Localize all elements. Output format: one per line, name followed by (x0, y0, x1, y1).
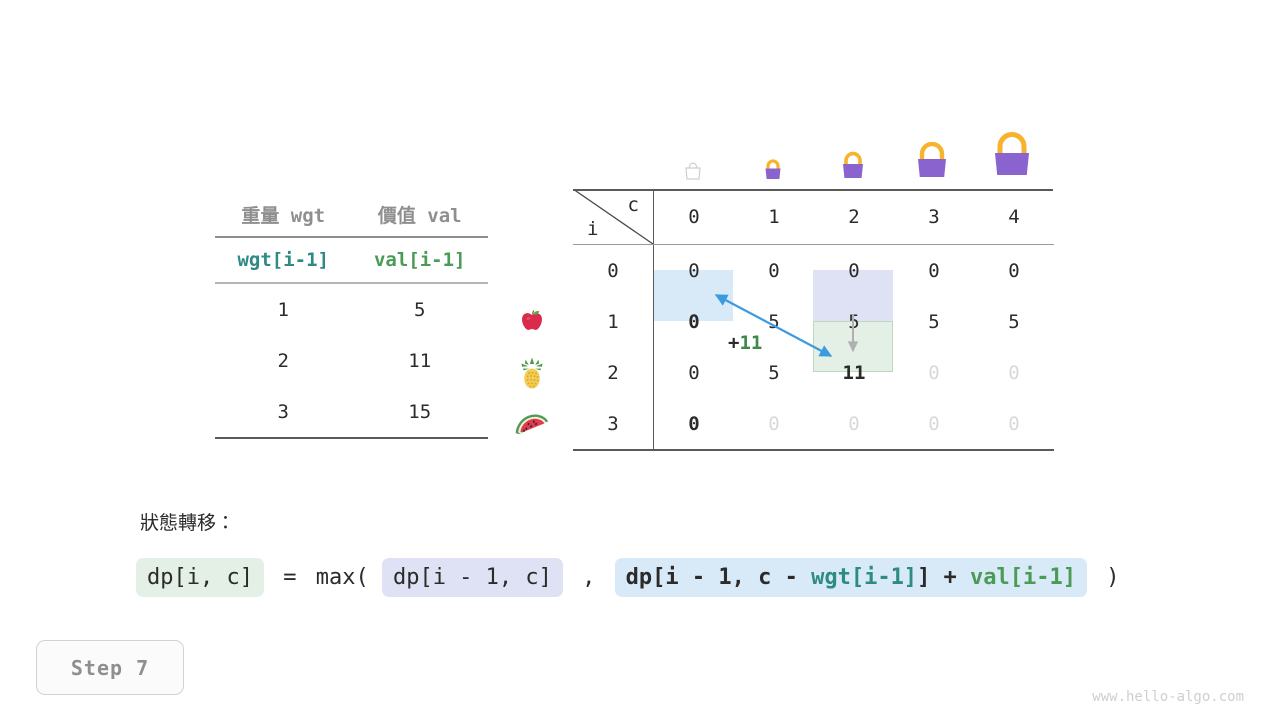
dp-col-header-2: 2 (814, 189, 894, 245)
dp-row-header-1: 1 (573, 296, 654, 347)
formula-comma: , (563, 565, 615, 590)
item-wgt-value: 3 (215, 386, 352, 438)
item-wgt-value: 2 (215, 335, 352, 386)
formula-max-open: max( (316, 565, 382, 590)
item-wgt-value: 1 (215, 283, 352, 335)
dp-table-top-border (573, 189, 1053, 191)
item-table-header-val: 價值 val (352, 192, 489, 237)
dp-table-header-row: c i 0 1 2 3 4 (573, 189, 1054, 245)
dp-table: c i 0 1 2 3 4 0 0 0 0 0 0 1 0 5 5 5 5 2 (573, 189, 1053, 445)
dp-cell-3-0: 0 (654, 398, 735, 450)
item-val-value: 5 (352, 283, 489, 335)
formula-close-paren: ) (1087, 565, 1126, 590)
dp-table-row: 2 0 5 11 0 0 (573, 347, 1054, 398)
dp-cell-3-4: 0 (974, 398, 1054, 450)
dp-cell-3-3: 0 (894, 398, 974, 450)
plus-value-annotation: +11 (728, 332, 762, 354)
formula-option-skip: dp[i - 1, c] (382, 558, 563, 597)
dp-cell-0-1: 0 (734, 245, 814, 297)
corner-diagonal-icon (573, 189, 653, 244)
dp-table-grid: c i 0 1 2 3 4 0 0 0 0 0 0 1 0 5 5 5 5 2 (573, 189, 1054, 451)
dp-corner-col-label: c (628, 194, 639, 216)
watermark: www.hello-algo.com (1092, 689, 1244, 705)
dp-col-header-3: 3 (894, 189, 974, 245)
fruit-icon-column (508, 296, 556, 449)
dp-cell-2-2: 11 (814, 347, 894, 398)
dp-cell-1-0: 0 (654, 296, 735, 347)
pineapple-icon (508, 347, 556, 398)
formula-target: dp[i, c] (136, 558, 264, 597)
item-table-row: 2 11 (215, 335, 488, 386)
dp-col-header-1: 1 (734, 189, 814, 245)
dp-table-row: 3 0 0 0 0 0 (573, 398, 1054, 450)
dp-corner-row-label: i (587, 218, 598, 240)
state-transition-formula: dp[i, c] = max( dp[i - 1, c] , dp[i - 1,… (136, 558, 1126, 597)
dp-cell-3-2: 0 (814, 398, 894, 450)
bag-icon-capacity-4 (983, 132, 1041, 188)
bag-icon-capacity-2 (833, 150, 873, 188)
dp-cell-0-3: 0 (894, 245, 974, 297)
formula-option-take: dp[i - 1, c - wgt[i-1]] + val[i-1] (615, 558, 1087, 597)
item-table-row: 1 5 (215, 283, 488, 335)
dp-cell-0-2: 0 (814, 245, 894, 297)
formula-val-term: val[i-1] (970, 565, 1076, 590)
dp-row-header-3: 3 (573, 398, 654, 450)
state-transition-label: 狀態轉移： (140, 508, 235, 535)
dp-col-header-4: 4 (974, 189, 1054, 245)
item-table-header-wgt: 重量 wgt (215, 192, 352, 237)
item-table-header-row: 重量 wgt 價值 val (215, 192, 488, 237)
formula-equals: = (264, 565, 316, 590)
item-table-subheader-val: val[i-1] (352, 237, 489, 283)
dp-cell-2-1: 5 (734, 347, 814, 398)
dp-table-corner-cell: c i (573, 189, 654, 245)
dp-cell-0-4: 0 (974, 245, 1054, 297)
formula-option-take-mid: ] + (917, 565, 970, 590)
dp-cell-0-0: 0 (654, 245, 735, 297)
bag-capacity-icons (653, 126, 1053, 188)
dp-cell-1-3: 5 (894, 296, 974, 347)
item-val-value: 15 (352, 386, 489, 438)
dp-col-header-0: 0 (654, 189, 735, 245)
dp-cell-1-2: 5 (814, 296, 894, 347)
dp-cell-2-4: 0 (974, 347, 1054, 398)
formula-option-take-prefix: dp[i - 1, c - (626, 565, 811, 590)
dp-cell-2-0: 0 (654, 347, 735, 398)
item-table: 重量 wgt 價值 val wgt[i-1] val[i-1] 1 5 2 11… (215, 192, 488, 439)
item-table-subheader-wgt: wgt[i-1] (215, 237, 352, 283)
bag-icon-capacity-0 (681, 160, 705, 184)
item-table-grid: 重量 wgt 價值 val wgt[i-1] val[i-1] 1 5 2 11… (215, 192, 488, 439)
item-table-subheader-row: wgt[i-1] val[i-1] (215, 237, 488, 283)
bag-icon-capacity-1 (757, 156, 789, 188)
apple-icon (508, 296, 556, 347)
plus-sign: + (728, 332, 739, 354)
formula-wgt-term: wgt[i-1] (811, 565, 917, 590)
dp-table-row: 0 0 0 0 0 0 (573, 245, 1054, 297)
dp-cell-2-3: 0 (894, 347, 974, 398)
item-val-value: 11 (352, 335, 489, 386)
dp-row-header-2: 2 (573, 347, 654, 398)
bag-icon-capacity-3 (907, 142, 957, 188)
plus-value: 11 (739, 332, 762, 354)
item-table-row: 3 15 (215, 386, 488, 438)
watermelon-icon (508, 398, 556, 449)
dp-cell-3-1: 0 (734, 398, 814, 450)
step-badge: Step 7 (36, 640, 184, 695)
dp-table-row: 1 0 5 5 5 5 (573, 296, 1054, 347)
dp-cell-1-4: 5 (974, 296, 1054, 347)
dp-row-header-0: 0 (573, 245, 654, 297)
